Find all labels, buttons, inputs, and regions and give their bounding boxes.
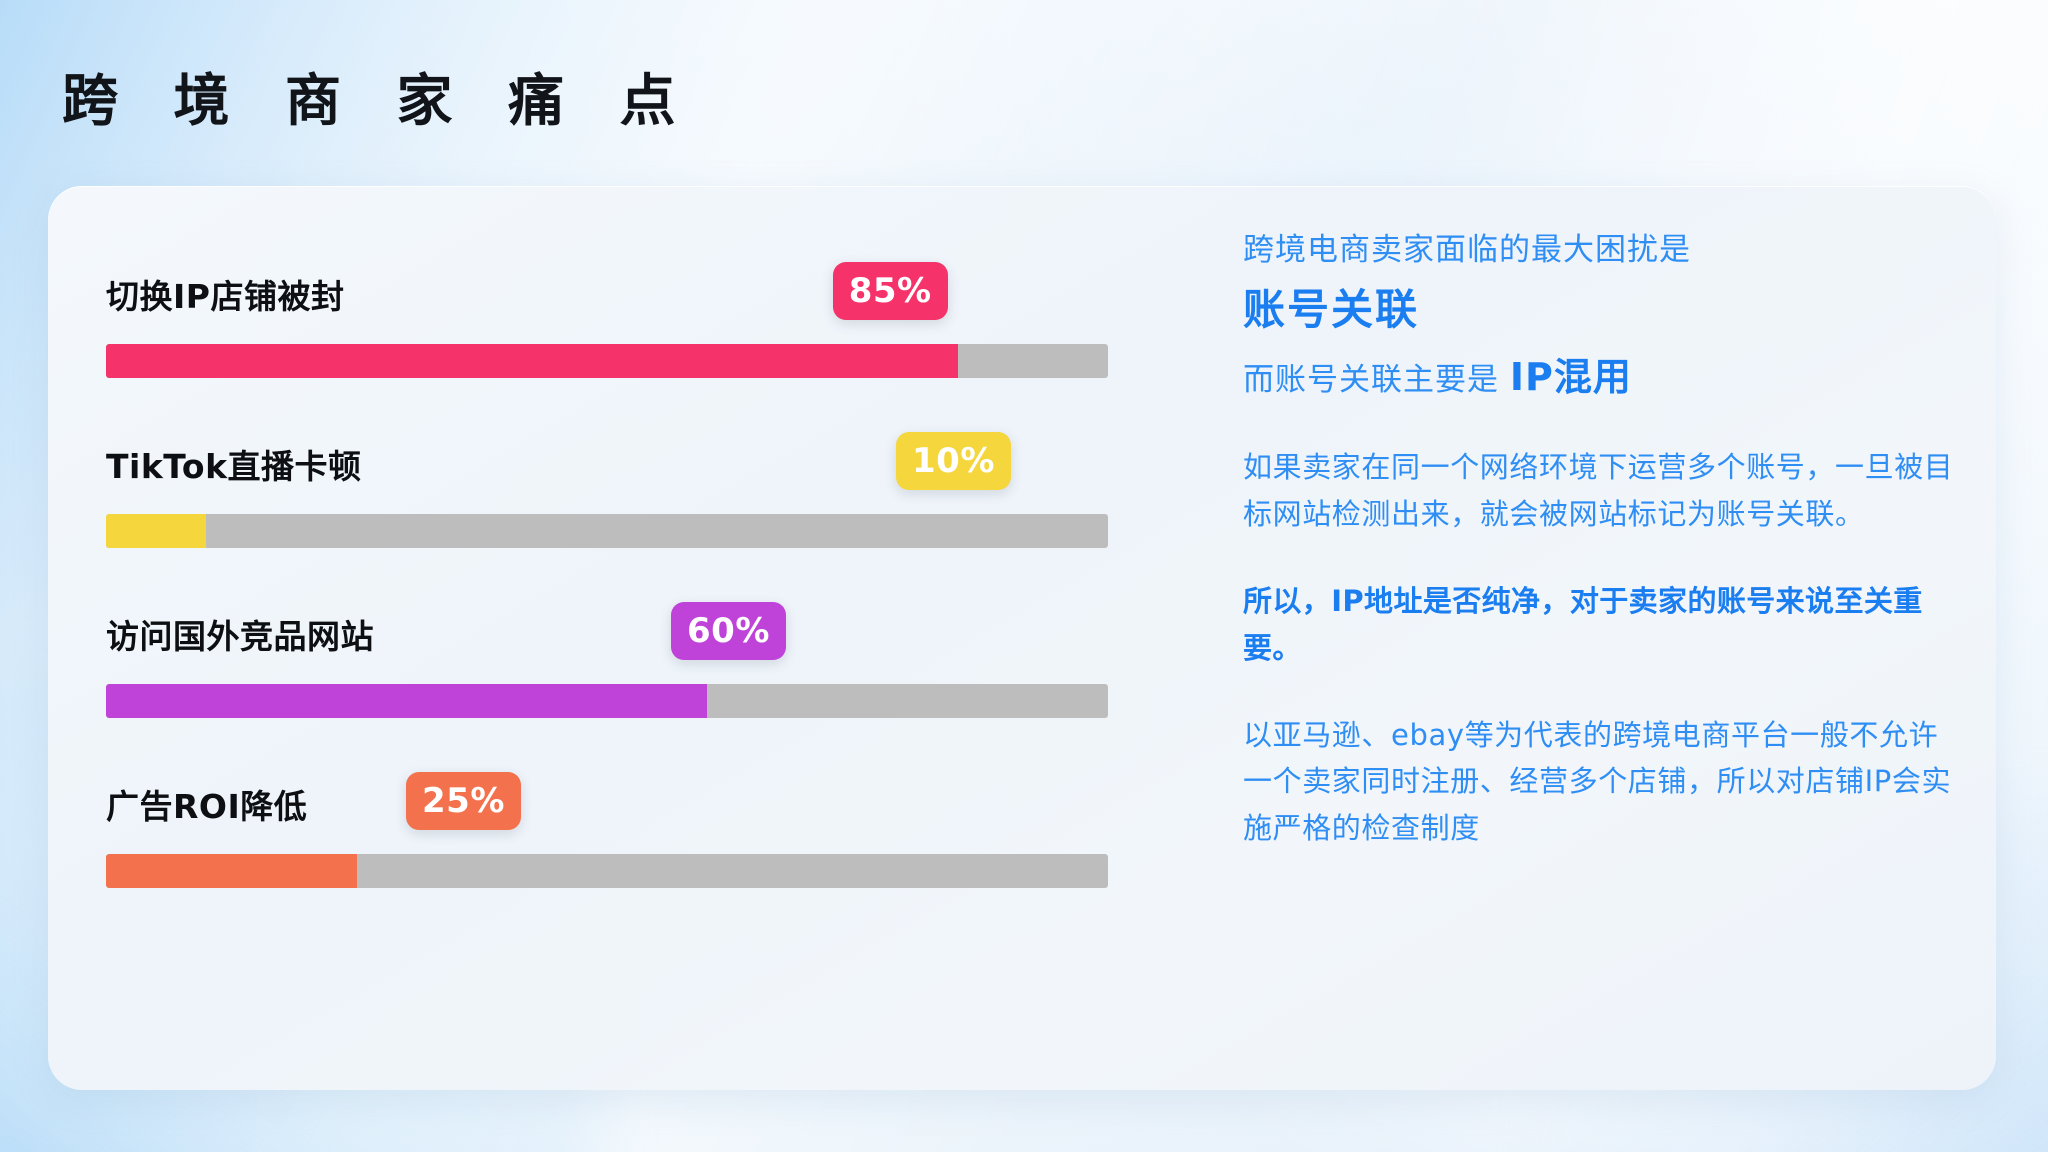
bar-label: 广告ROI降低 [106, 780, 307, 828]
bar-value-badge: 60% [671, 602, 786, 660]
pain-point-bar-chart: 切换IP店铺被封 85% TikTok直播卡顿 10% 访问国外竞品网站 60% [106, 248, 1166, 1028]
bar-fill [106, 854, 357, 888]
bar-label: 访问国外竞品网站 [106, 610, 374, 658]
bar-value-badge: 25% [406, 772, 521, 830]
bar-value-badge: 85% [833, 262, 948, 320]
bar-fill [106, 514, 206, 548]
bar-track [106, 344, 1108, 378]
page-title: 跨 境 商 家 痛 点 [62, 56, 693, 137]
bar-row: 访问国外竞品网站 60% [106, 588, 1166, 758]
bar-header: 切换IP店铺被封 85% [106, 248, 1166, 320]
mix-line: 而账号关联主要是 IP混用 [1243, 352, 1955, 403]
bar-row: 切换IP店铺被封 85% [106, 248, 1166, 418]
mix-highlight: IP混用 [1510, 355, 1632, 399]
bar-label: 切换IP店铺被封 [106, 270, 344, 318]
bar-track [106, 514, 1108, 548]
bar-header: TikTok直播卡顿 10% [106, 418, 1166, 490]
paragraph-2: 所以，IP地址是否纯净，对于卖家的账号来说至关重要。 [1243, 578, 1955, 672]
bar-track [106, 684, 1108, 718]
bar-track [106, 854, 1108, 888]
hero-text: 账号关联 [1243, 284, 1955, 337]
description-panel: 跨境电商卖家面临的最大困扰是 账号关联 而账号关联主要是 IP混用 如果卖家在同… [1243, 230, 1955, 852]
bar-label: TikTok直播卡顿 [106, 440, 362, 488]
mix-prefix: 而账号关联主要是 [1243, 362, 1510, 398]
content-card: 切换IP店铺被封 85% TikTok直播卡顿 10% 访问国外竞品网站 60% [48, 186, 1996, 1090]
bar-header: 访问国外竞品网站 60% [106, 588, 1166, 660]
paragraph-1: 如果卖家在同一个网络环境下运营多个账号，一旦被目标网站检测出来，就会被网站标记为… [1243, 444, 1955, 538]
paragraph-3: 以亚马逊、ebay等为代表的跨境电商平台一般不允许一个卖家同时注册、经营多个店铺… [1243, 712, 1955, 853]
bar-row: 广告ROI降低 25% [106, 758, 1166, 928]
lead-text: 跨境电商卖家面临的最大困扰是 [1243, 230, 1955, 272]
bar-header: 广告ROI降低 25% [106, 758, 1166, 830]
bar-fill [106, 684, 707, 718]
bar-row: TikTok直播卡顿 10% [106, 418, 1166, 588]
bar-value-badge: 10% [896, 432, 1011, 490]
bar-fill [106, 344, 958, 378]
